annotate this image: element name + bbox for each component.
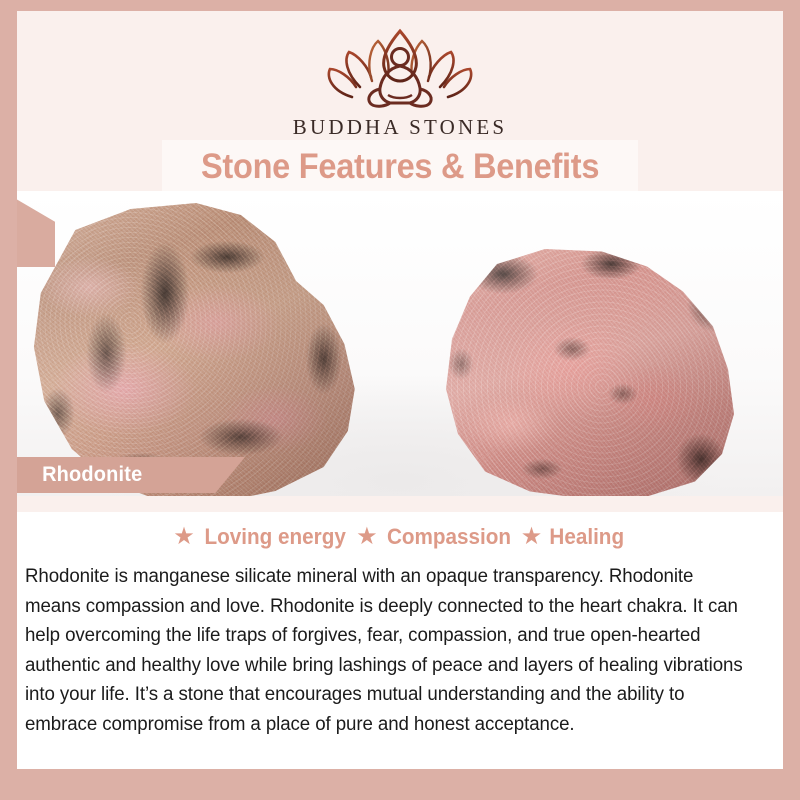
keyword-label: Healing xyxy=(550,524,625,550)
page-title: Stone Features & Benefits xyxy=(201,147,599,187)
content-card: BUDDHA STONES Stone Features & Benefits xyxy=(17,11,783,769)
description-panel: ★ Loving energy ★ Compassion ★ Healing R… xyxy=(17,496,783,769)
star-icon: ★ xyxy=(173,525,195,549)
keyword-item: ★ Loving energy xyxy=(173,524,350,550)
keyword-item: ★ Healing xyxy=(521,524,627,550)
keyword-label: Compassion xyxy=(387,524,511,550)
star-icon: ★ xyxy=(521,525,543,549)
star-icon: ★ xyxy=(356,525,378,549)
stone-photo: Rhodonite xyxy=(17,191,783,496)
status-badge: Rhodonite xyxy=(17,457,245,493)
description-text: Rhodonite is manganese silicate mineral … xyxy=(25,562,743,739)
panel-top-fade xyxy=(17,496,783,512)
stone-name-label: Rhodonite xyxy=(20,463,142,487)
keyword-label: Loving energy xyxy=(204,524,345,550)
keyword-list: ★ Loving energy ★ Compassion ★ Healing xyxy=(17,524,783,550)
brand-name: BUDDHA STONES xyxy=(293,115,508,140)
keyword-item: ★ Compassion xyxy=(356,524,515,550)
infographic-page: BUDDHA STONES Stone Features & Benefits xyxy=(0,0,800,800)
brand-logo: BUDDHA STONES xyxy=(17,25,783,140)
lotus-meditation-icon xyxy=(316,25,484,111)
title-banner: Stone Features & Benefits xyxy=(162,140,638,194)
